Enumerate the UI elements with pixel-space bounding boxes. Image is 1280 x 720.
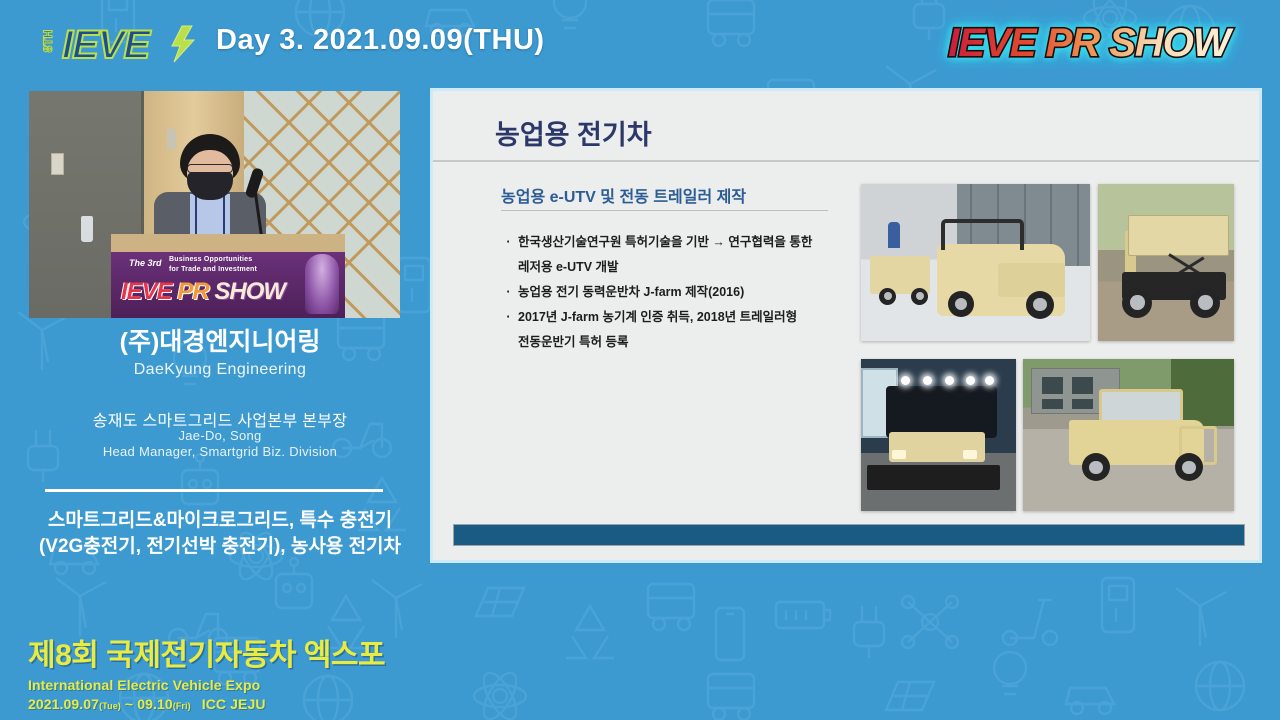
section-divider xyxy=(45,489,383,492)
slide-subtitle-rule xyxy=(501,210,828,211)
slide-title: 농업용 전기차 xyxy=(495,113,652,152)
list-item: · 농업용 전기 동력운반차 J-farm 제작(2016) xyxy=(505,280,895,305)
bullet-text: 레저용 e-UTV 개발 xyxy=(518,255,895,280)
bullet-marker: · xyxy=(505,305,512,330)
banner-subline-2: for Trade and Investment xyxy=(169,266,257,273)
slide-subtitle: 농업용 e-UTV 및 전동 트레일러 제작 xyxy=(501,183,746,207)
podium: The 3rd Business Opportunities for Trade… xyxy=(111,234,345,318)
wall-switch-plate xyxy=(51,153,64,175)
bullet-text: 한국생산기술연구원 특허기술을 기반 → 연구협력을 통한 xyxy=(518,230,895,255)
svg-text:IEVE: IEVE xyxy=(62,23,151,67)
ieve-pr-show-logo: IEVE PR SHOW xyxy=(924,13,1254,69)
bullet-marker: · xyxy=(505,280,512,305)
list-item: · 한국생산기술연구원 특허기술을 기반 → 연구협력을 통한 xyxy=(505,230,895,255)
expo-date-start: 2021.09.07 xyxy=(28,696,99,712)
speaker-video-panel[interactable]: The 3rd Business Opportunities for Trade… xyxy=(29,91,400,318)
slide-footer-bar xyxy=(453,524,1245,546)
expo-date-start-day: (Tue) xyxy=(99,701,121,711)
bullet-text: 농업용 전기 동력운반차 J-farm 제작(2016) xyxy=(518,280,895,305)
photo-euvt-with-blade-booth xyxy=(861,359,1016,511)
banner-title-pr: PR xyxy=(177,278,208,305)
list-item: · 전동운반기 특허 등록 xyxy=(505,330,895,355)
slide-bullet-list: · 한국생산기술연구원 특허기술을 기반 → 연구협력을 통한 · 레저용 e-… xyxy=(505,230,895,355)
photo-electric-tipper-outdoor xyxy=(1098,184,1234,341)
expo-date-separator: ~ xyxy=(125,696,133,712)
banner-title-ieve: IEVE xyxy=(121,278,172,305)
svg-text:IEVE PR SHOW: IEVE PR SHOW xyxy=(948,21,1234,65)
bullet-text: 전동운반기 특허 등록 xyxy=(518,330,895,355)
speaker-name-english: Jae-Do, Song xyxy=(30,428,410,443)
topics-line-2: (V2G충전기, 전기선박 충전기), 농사용 전기차 xyxy=(30,531,410,558)
podium-banner: The 3rd Business Opportunities for Trade… xyxy=(111,252,345,318)
banner-edition-label: The 3rd xyxy=(129,258,162,268)
list-item: · 2017년 J-farm 농기계 인증 취득, 2018년 트레일러형 xyxy=(505,305,895,330)
ieve-8th-logo: 8TH IEVE xyxy=(22,12,204,70)
expo-footer-branding: 제8회 국제전기자동차 엑스포 International Electric V… xyxy=(28,630,385,712)
photo-jfarm-utility-vehicle-outdoor xyxy=(1023,359,1234,511)
banner-title: IEVE PR SHOW xyxy=(121,278,285,306)
header-bar: 8TH IEVE Day 3. 2021.09.09(THU) xyxy=(0,0,1280,84)
expo-date-venue: 2021.09.07(Tue) ~ 09.10(Fri) ICC JEJU xyxy=(28,696,385,712)
list-item: · 레저용 e-UTV 개발 xyxy=(505,255,895,280)
expo-title-english: International Electric Vehicle Expo xyxy=(28,677,385,693)
day-date-label: Day 3. 2021.09.09(THU) xyxy=(216,24,545,57)
banner-subline-1: Business Opportunities xyxy=(169,256,252,263)
photo-euvt-with-trailer-indoor xyxy=(861,184,1090,341)
bullet-marker: · xyxy=(505,230,512,255)
expo-title-korean: 제8회 국제전기자동차 엑스포 xyxy=(28,630,385,674)
banner-title-show: SHOW xyxy=(214,278,285,305)
presentation-slide[interactable]: 농업용 전기차 농업용 e-UTV 및 전동 트레일러 제작 · 한국생산기술연… xyxy=(430,88,1262,563)
expo-date-end-day: (Fri) xyxy=(173,701,191,711)
company-name-english: DaeKyung Engineering xyxy=(30,361,410,379)
water-bottle xyxy=(81,216,93,242)
banner-microphone-icon xyxy=(305,254,339,314)
bullet-text: 2017년 J-farm 농기계 인증 취득, 2018년 트레일러형 xyxy=(518,305,895,330)
expo-venue: ICC JEJU xyxy=(202,696,266,712)
topics-line-1: 스마트그리드&마이크로그리드, 특수 충전기 xyxy=(30,505,410,532)
speaker-title-english: Head Manager, Smartgrid Biz. Division xyxy=(30,444,410,459)
expo-date-end: 09.10 xyxy=(137,696,173,712)
svg-text:8TH: 8TH xyxy=(41,30,55,53)
slide-title-rule xyxy=(433,160,1259,162)
company-name-korean: (주)대경엔지니어링 xyxy=(30,322,410,358)
